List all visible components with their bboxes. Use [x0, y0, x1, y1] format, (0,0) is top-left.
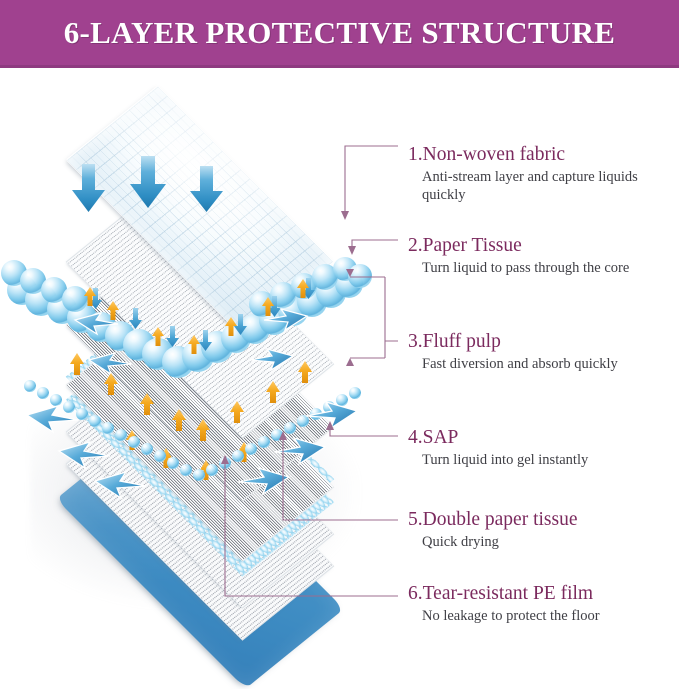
- callout-6-description: No leakage to protect the floor: [408, 607, 676, 625]
- callout-4-title: 4.SAP: [408, 426, 676, 450]
- callout-5-description: Quick drying: [408, 533, 676, 551]
- callout-6-tear-resistant-pe-film: 6.Tear-resistant PE film No leakage to p…: [408, 582, 676, 625]
- callout-3-fluff-pulp: 3.Fluff pulp Fast diversion and absorb q…: [408, 330, 676, 373]
- callout-2-title: 2.Paper Tissue: [408, 234, 676, 258]
- callout-6-title: 6.Tear-resistant PE film: [408, 582, 676, 606]
- callout-5-double-paper-tissue: 5.Double paper tissue Quick drying: [408, 508, 676, 551]
- callout-list: 1.Non-woven fabric Anti-stream layer and…: [400, 68, 679, 646]
- callout-3-title: 3.Fluff pulp: [408, 330, 676, 354]
- diversion-arrows-lateral-lower: [27, 402, 357, 498]
- callout-3-description: Fast diversion and absorb quickly: [408, 355, 676, 373]
- diagram-overlay: [0, 68, 400, 646]
- callout-5-title: 5.Double paper tissue: [408, 508, 676, 532]
- callout-2-description: Turn liquid to pass through the core: [408, 259, 676, 277]
- callout-4-sap: 4.SAP Turn liquid into gel instantly: [408, 426, 676, 469]
- callout-1-title: 1.Non-woven fabric: [408, 143, 676, 167]
- callout-2-paper-tissue: 2.Paper Tissue Turn liquid to pass throu…: [408, 234, 676, 277]
- callout-1-description: Anti-stream layer and capture liquids qu…: [408, 168, 676, 204]
- callout-4-description: Turn liquid into gel instantly: [408, 451, 676, 469]
- fluff-pulp-bubbles: [1, 257, 372, 378]
- callout-1-non-woven-fabric: 1.Non-woven fabric Anti-stream layer and…: [408, 143, 676, 204]
- header-banner: 6-LAYER PROTECTIVE STRUCTURE: [0, 0, 679, 68]
- absorption-arrows-down-large: [72, 156, 223, 212]
- page-title: 6-LAYER PROTECTIVE STRUCTURE: [64, 15, 616, 51]
- sap-beads: [24, 380, 361, 481]
- layer-diagram: [0, 68, 400, 646]
